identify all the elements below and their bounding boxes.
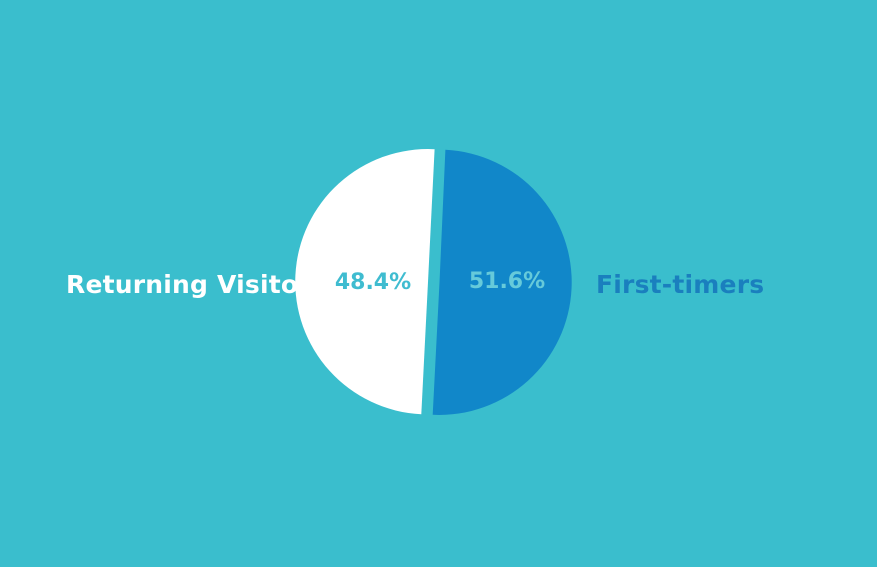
category-label-returning-visitors: Returning Visitors (66, 272, 326, 297)
value-label-first-timers: 51.6% (469, 271, 545, 293)
value-label-returning-visitors: 48.4% (335, 272, 411, 294)
category-label-first-timers: First-timers (596, 272, 764, 297)
pie-chart-figure: Returning Visitors First-timers 48.4% 51… (0, 0, 877, 567)
